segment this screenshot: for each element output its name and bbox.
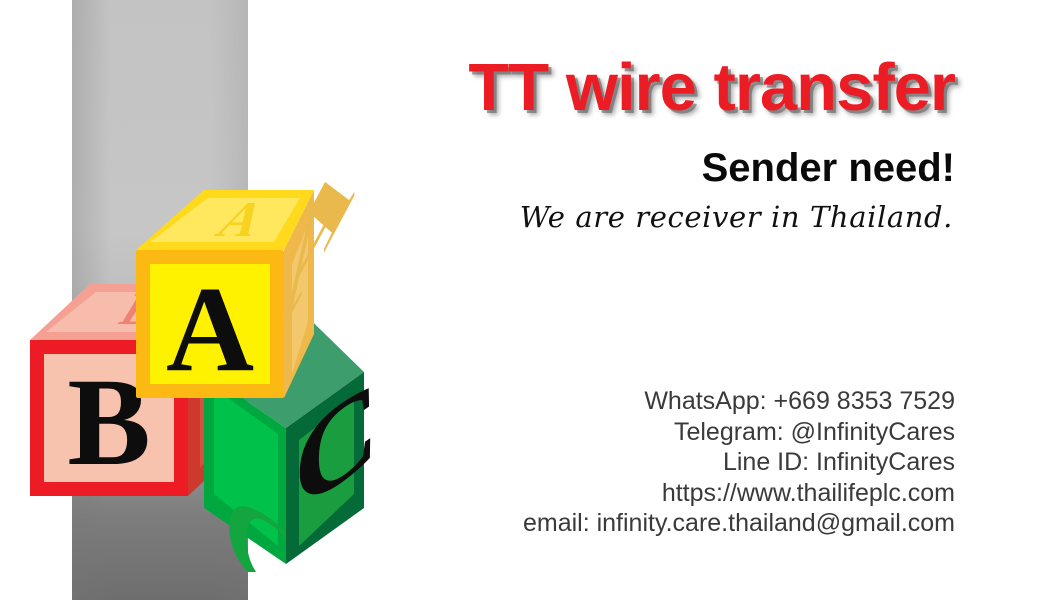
text-column: TT wire transfer Sender need! We are rec… <box>250 0 955 600</box>
page-subtitle: Sender need! <box>250 146 955 190</box>
contact-line-telegram: Telegram: @InfinityCares <box>250 417 955 448</box>
contact-line-website[interactable]: https://www.thailifeplc.com <box>250 478 955 509</box>
page-tagline: We are receiver in Thailand. <box>248 200 953 235</box>
page-title: TT wire transfer <box>250 54 955 121</box>
contact-line-whatsapp: WhatsApp: +669 8353 7529 <box>250 386 955 417</box>
block-a-letter: A <box>166 262 254 397</box>
contact-line-email[interactable]: email: infinity.care.thailand@gmail.com <box>250 508 955 539</box>
banner-canvas: B B C C <box>0 0 1063 600</box>
contact-line-lineid: Line ID: InfinityCares <box>250 447 955 478</box>
contact-block: WhatsApp: +669 8353 7529 Telegram: @Infi… <box>250 386 955 539</box>
